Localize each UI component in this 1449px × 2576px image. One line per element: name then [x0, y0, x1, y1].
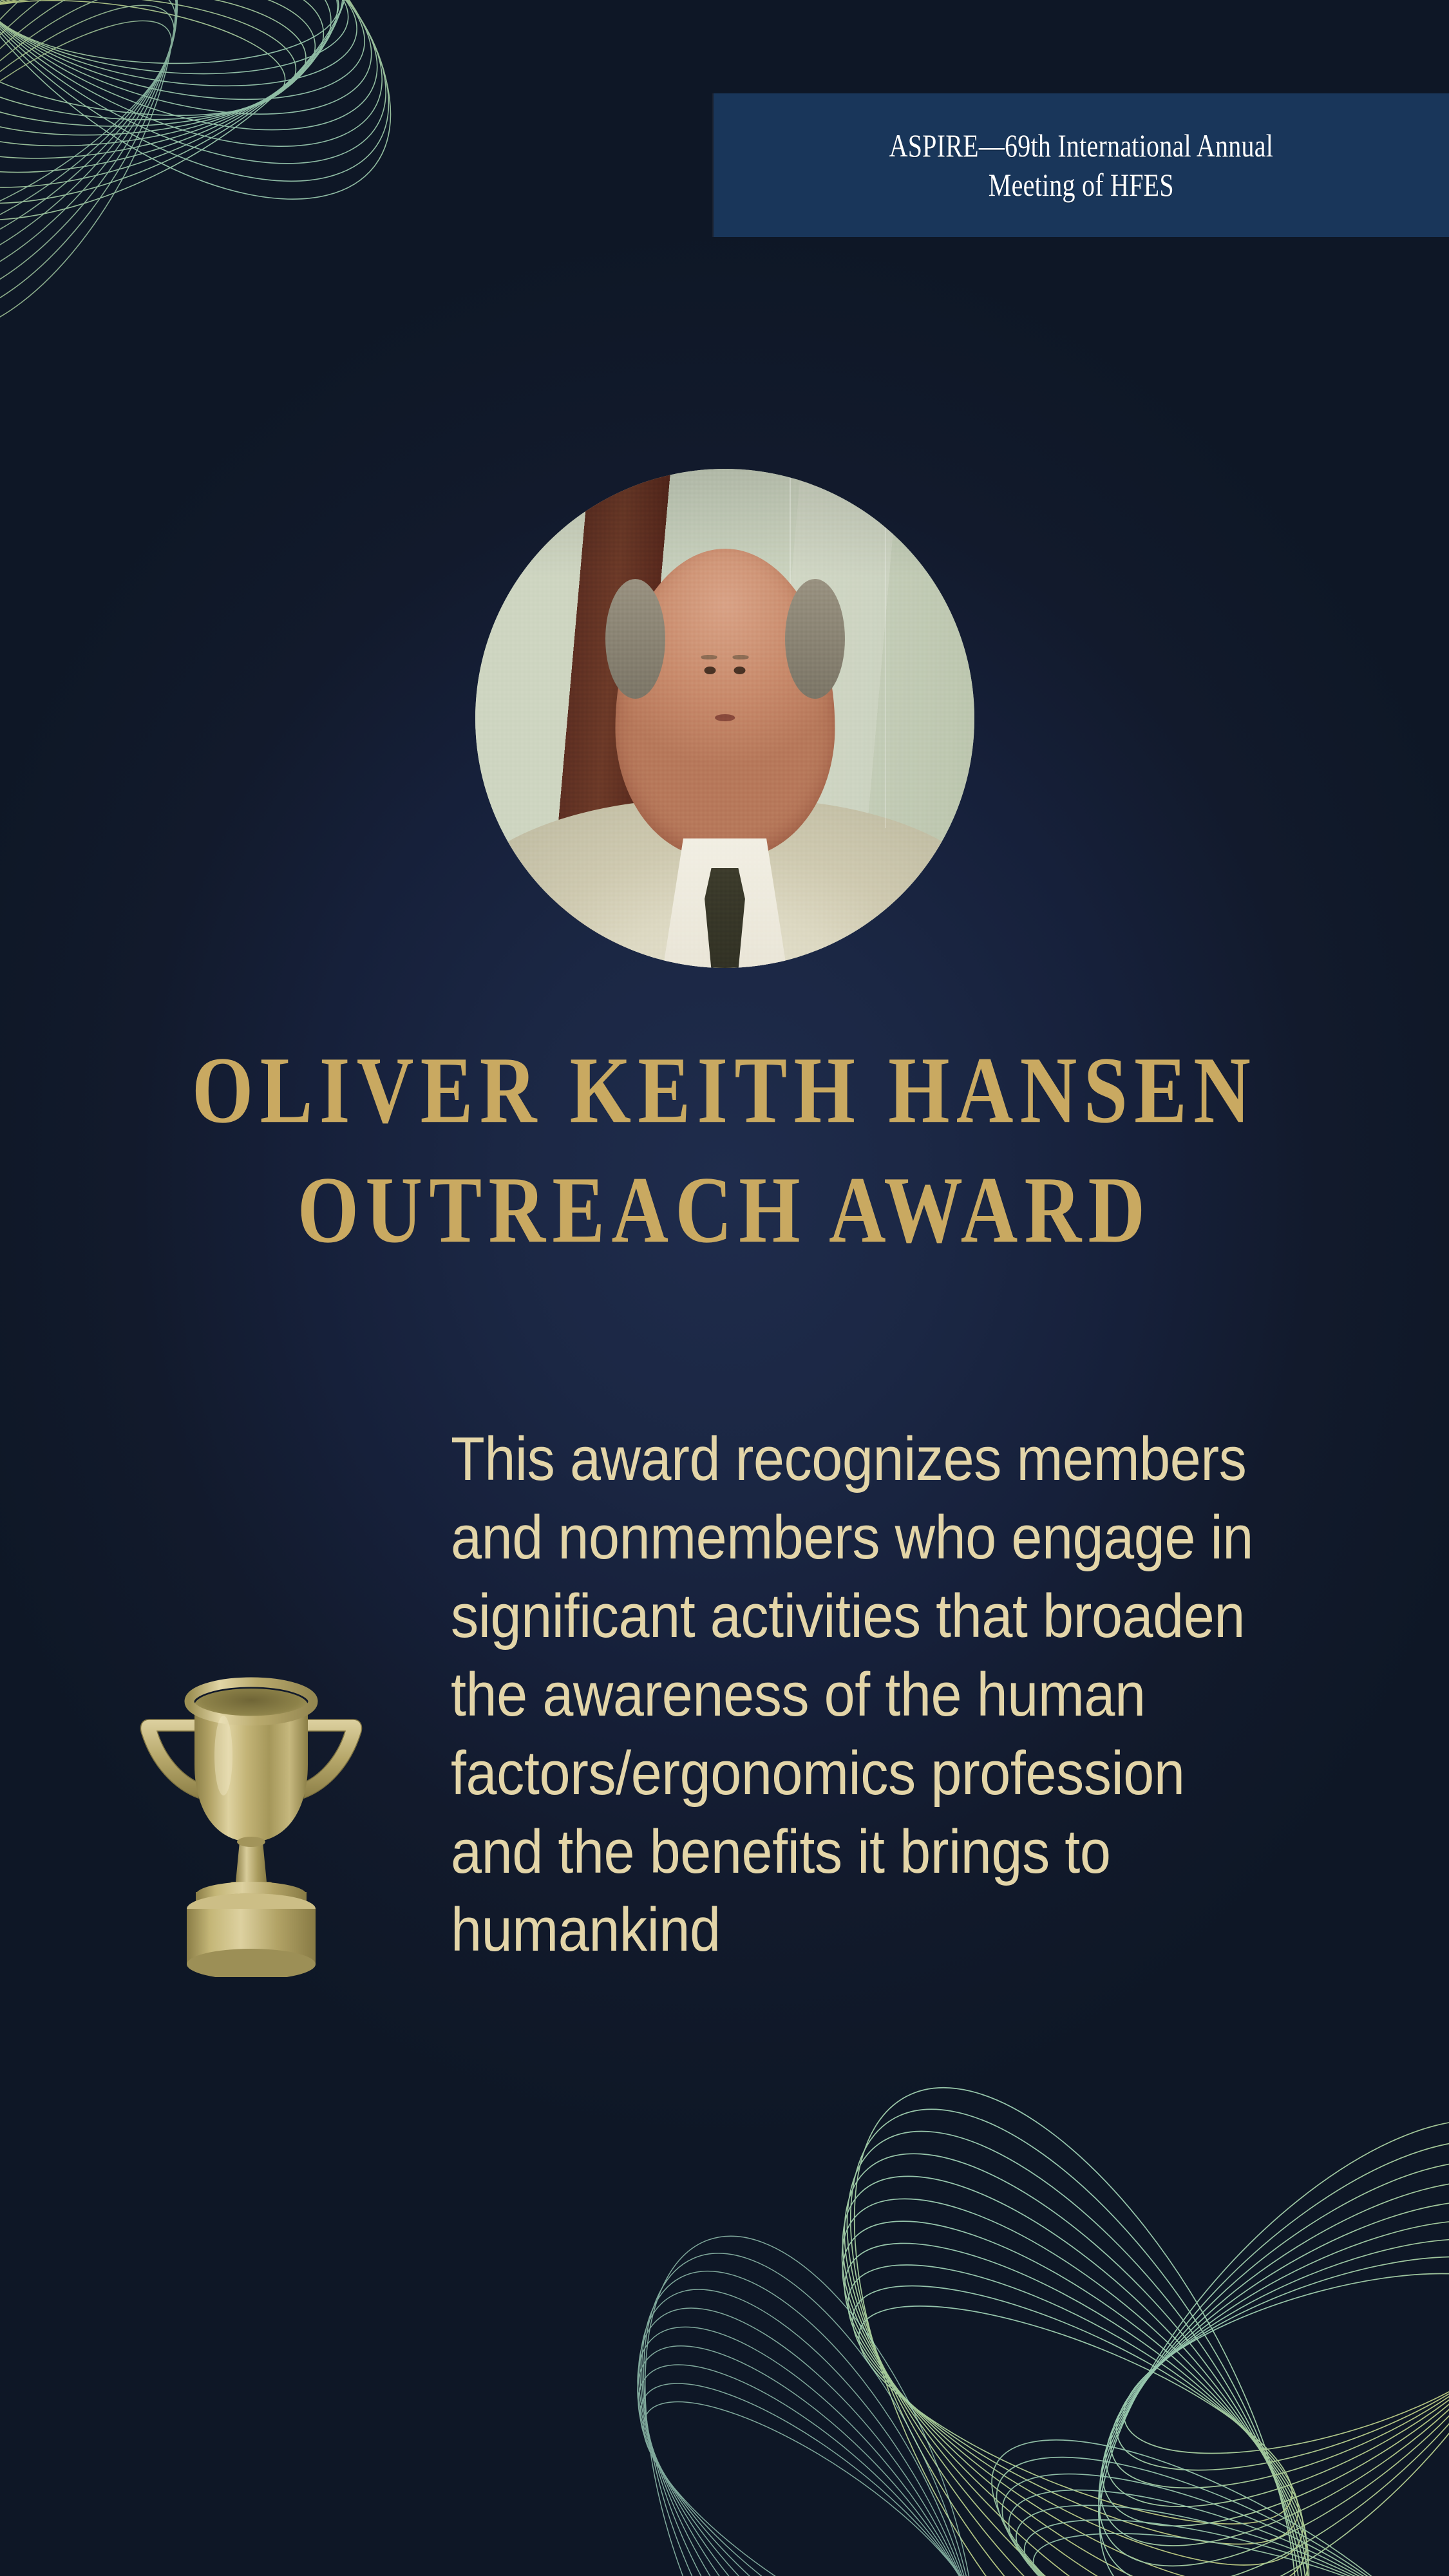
- trophy-icon: [122, 1629, 380, 1977]
- decorative-mesh-swirl-icon: [0, 0, 515, 399]
- decorative-mesh-swirl-icon: [586, 2003, 1449, 2576]
- award-poster: ASPIRE—69th International Annual Meeting…: [0, 0, 1449, 2576]
- decorative-mesh-swirl-icon: [451, 2202, 1191, 2576]
- recipient-portrait: [475, 469, 974, 968]
- portrait-grain-overlay: [475, 469, 974, 968]
- portrait-photo: [475, 469, 974, 968]
- award-title: OLIVER KEITH HANSEN OUTREACH AWARD: [51, 1030, 1399, 1271]
- conference-banner: ASPIRE—69th International Annual Meeting…: [714, 93, 1449, 237]
- award-description: This award recognizes members and nonmem…: [451, 1420, 1274, 1969]
- conference-title: ASPIRE—69th International Annual Meeting…: [889, 126, 1274, 205]
